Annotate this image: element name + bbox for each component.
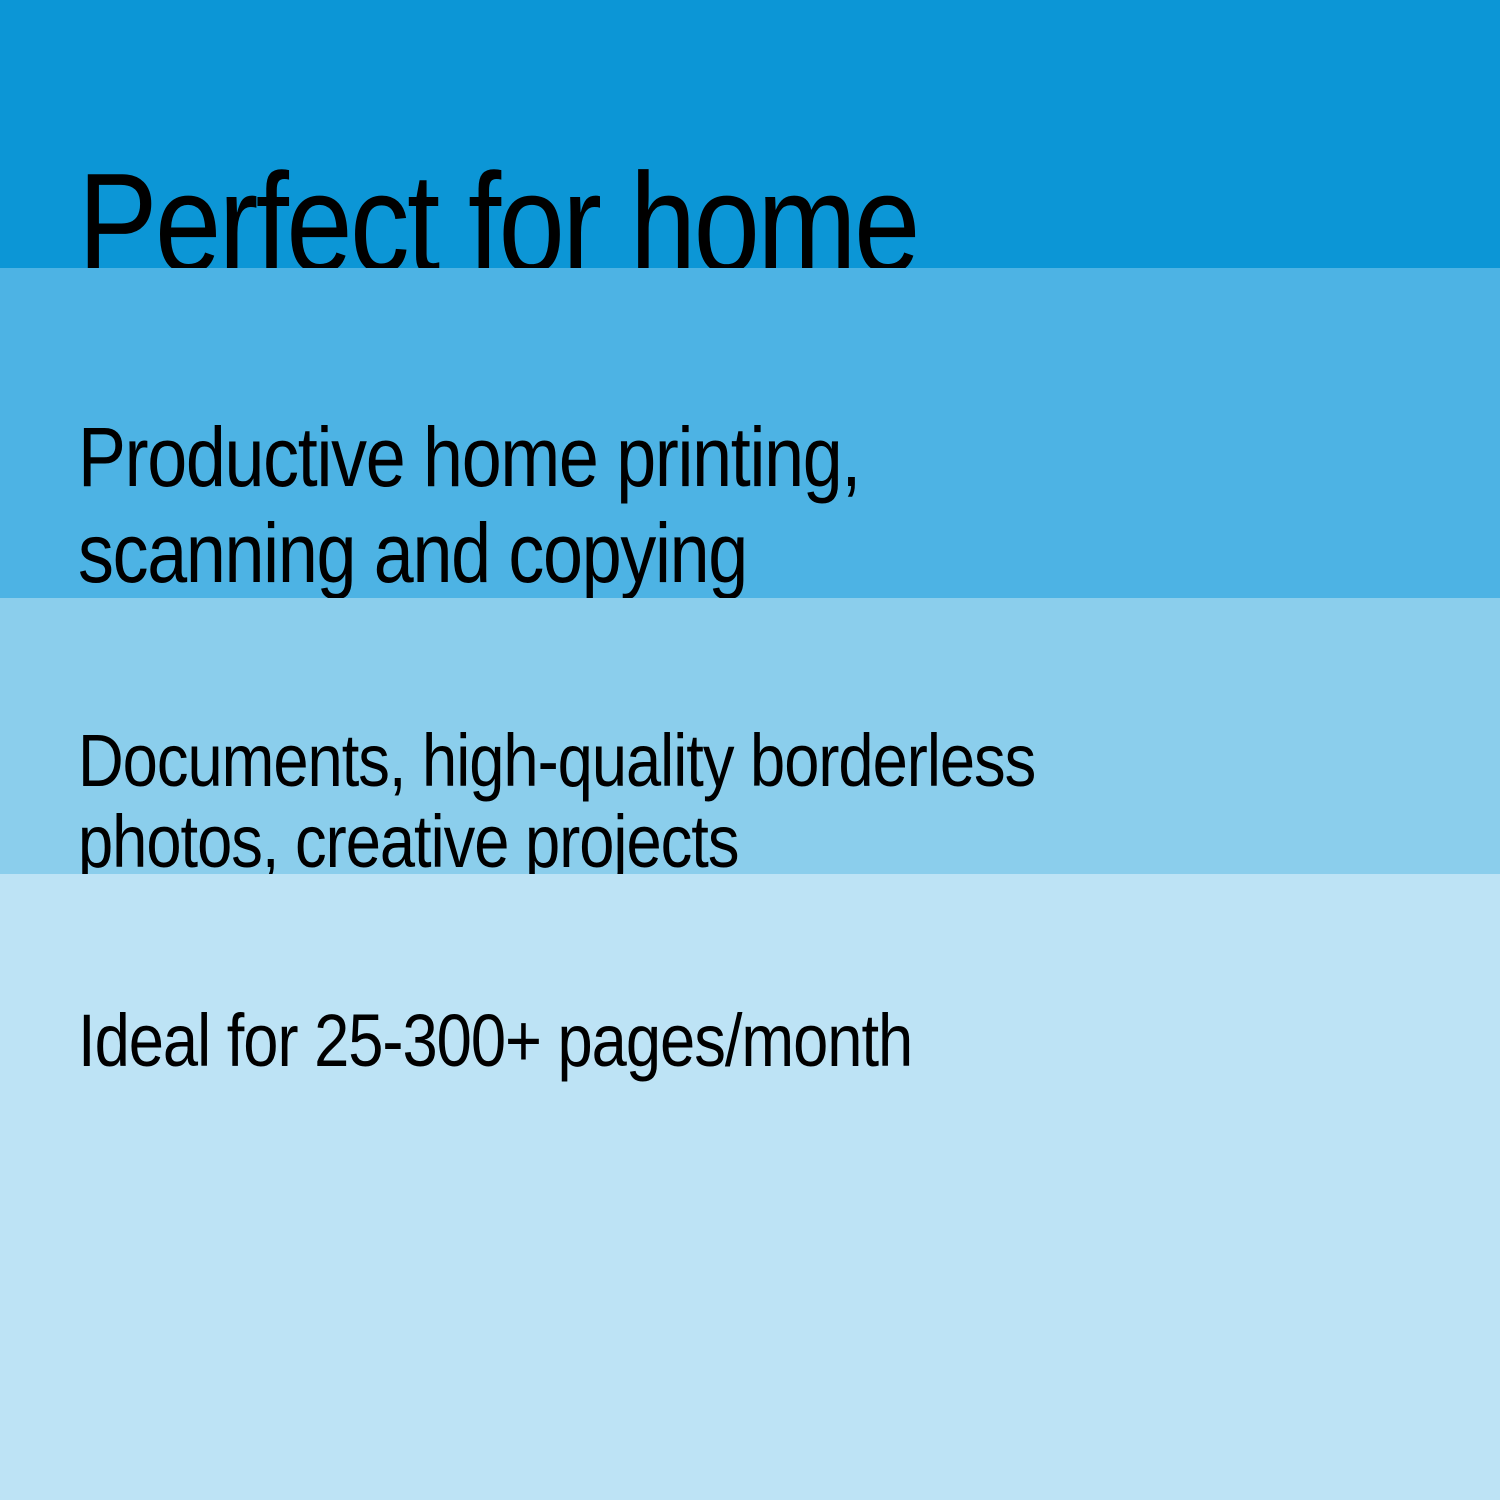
feature-poster: Perfect for home Productive home printin… — [0, 0, 1500, 1500]
volume-band: Ideal for 25-300+ pages/month — [0, 874, 1500, 1500]
headline-band: Perfect for home — [0, 0, 1500, 268]
volume-text: Ideal for 25-300+ pages/month — [78, 1000, 912, 1081]
capability-text: Productive home printing, scanning and c… — [78, 410, 860, 598]
use-case-text: Documents, high-quality borderless photo… — [78, 720, 1035, 874]
capability-band: Productive home printing, scanning and c… — [0, 268, 1500, 598]
use-case-band: Documents, high-quality borderless photo… — [0, 598, 1500, 874]
page-title: Perfect for home — [78, 153, 918, 268]
